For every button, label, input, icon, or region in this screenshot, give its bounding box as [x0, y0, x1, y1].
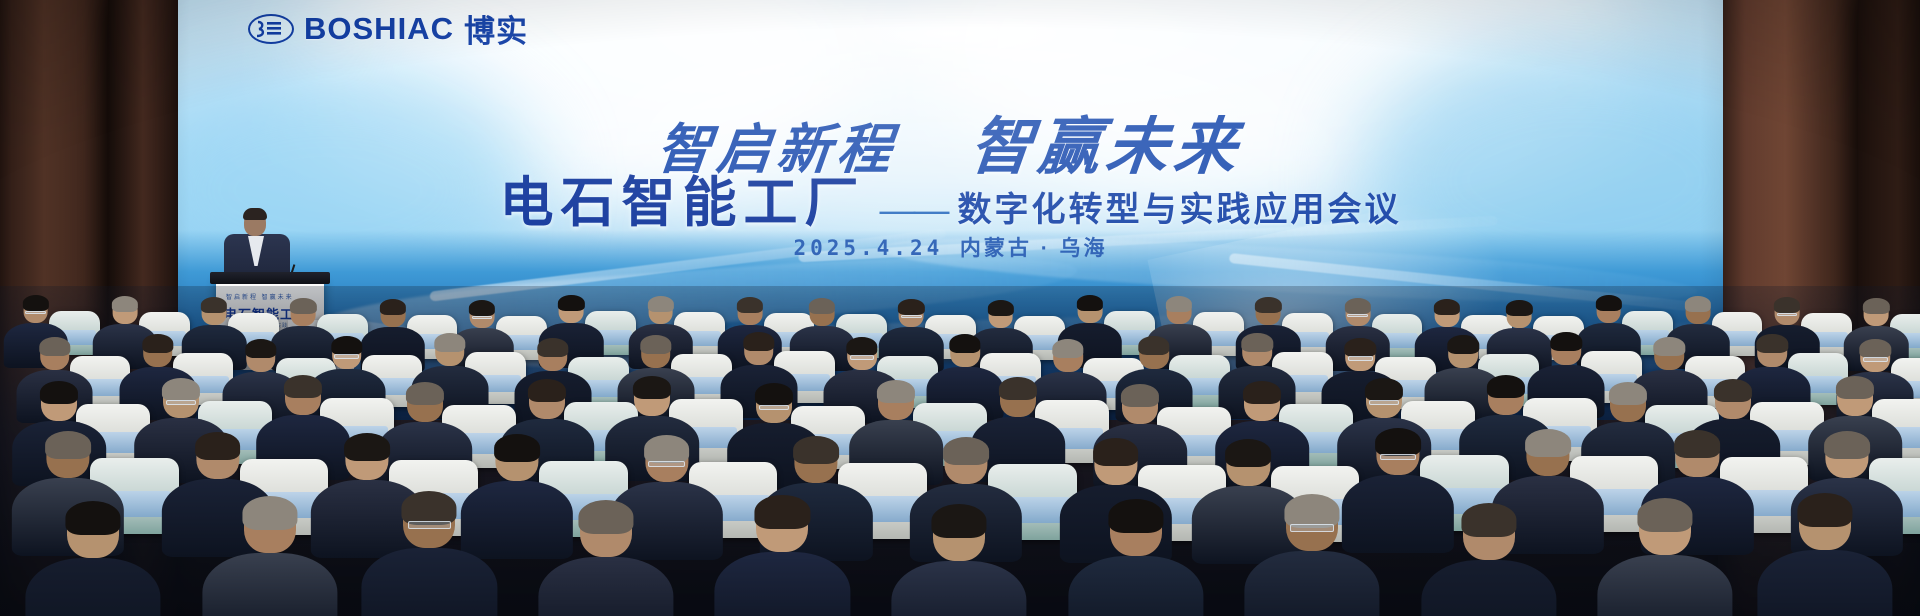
audience-hair	[1345, 338, 1376, 357]
audience-hair	[1093, 438, 1139, 466]
audience-hair	[1225, 439, 1271, 467]
audience-hair	[1714, 379, 1752, 402]
audience-hair	[112, 296, 138, 312]
brand-logo: BOSHIAC 博实	[248, 6, 528, 51]
audience-hair	[537, 338, 568, 357]
audience-shoulders	[538, 557, 673, 616]
brand-chinese-name: 博实	[464, 6, 528, 51]
audience-hair	[558, 295, 584, 311]
date-location-line: 2025.4.24 内蒙古 · 乌海	[178, 232, 1723, 262]
audience-glasses	[1347, 314, 1368, 318]
audience-shoulders	[1068, 556, 1203, 616]
audience-hair	[846, 337, 877, 356]
audience-hair	[290, 298, 316, 314]
audience-hair	[809, 298, 835, 314]
audience-glasses	[408, 521, 452, 529]
audience-hair	[1525, 429, 1571, 457]
audience-hair	[66, 501, 121, 535]
audience-shoulders	[202, 553, 337, 616]
audience-glasses	[166, 400, 196, 405]
brand-latin-name: BOSHIAC	[304, 11, 454, 47]
audience-hair	[344, 433, 390, 461]
audience-hair	[1836, 376, 1874, 399]
audience-shoulders	[1421, 560, 1556, 616]
audience-hair	[22, 295, 48, 311]
audience-hair	[1654, 337, 1685, 356]
audience-hair	[877, 380, 915, 403]
audience-member	[26, 503, 161, 616]
audience-hair	[578, 500, 633, 534]
audience-hair	[380, 299, 406, 315]
title-dash: ——	[870, 189, 954, 237]
conference-subtitle: 数字化转型与实践应用会议	[958, 182, 1402, 237]
audience-hair	[1797, 493, 1852, 527]
event-date: 2025.4.24	[793, 236, 943, 260]
audience-hair	[1774, 297, 1800, 313]
audience-hair	[1487, 375, 1525, 398]
audience-area	[0, 286, 1920, 616]
audience-hair	[1675, 430, 1721, 458]
audience-hair	[999, 377, 1037, 400]
audience-hair	[1863, 298, 1889, 314]
audience-hair	[434, 333, 465, 352]
audience-hair	[245, 339, 276, 358]
audience-hair	[1166, 296, 1192, 312]
audience-hair	[647, 296, 673, 312]
audience-hair	[1685, 296, 1711, 312]
audience-member	[1598, 500, 1733, 616]
audience-shoulders	[1244, 551, 1379, 616]
audience-glasses	[901, 315, 922, 319]
audience-hair	[1757, 334, 1788, 353]
audience-shoulders	[362, 548, 497, 616]
audience-hair	[1461, 503, 1516, 537]
audience-glasses	[759, 405, 789, 410]
event-location: 内蒙古 · 乌海	[960, 237, 1108, 260]
conference-photo: BOSHIAC 博实 智启新程 智赢未来 电石智能工厂 —— 数字化转型与实践应…	[0, 0, 1920, 616]
audience-member	[1068, 501, 1203, 616]
audience-hair	[1448, 335, 1479, 354]
audience-hair	[1609, 382, 1647, 405]
audience-shoulders	[26, 558, 161, 616]
audience-hair	[633, 376, 671, 399]
audience-hair	[1108, 499, 1163, 533]
main-title: 电石智能工厂	[500, 158, 866, 237]
audience-member	[1757, 495, 1892, 616]
audience-hair	[1824, 431, 1870, 459]
audience-member	[891, 506, 1026, 616]
audience-glasses	[1777, 313, 1798, 317]
audience-hair	[494, 434, 540, 462]
audience-glasses	[1369, 400, 1399, 405]
audience-shoulders	[1757, 550, 1892, 616]
audience-hair	[406, 382, 444, 405]
audience-glasses	[648, 461, 684, 467]
audience-hair	[162, 378, 200, 401]
audience-hair	[743, 332, 774, 351]
audience-glasses	[1348, 356, 1373, 360]
audience-hair	[1506, 300, 1532, 316]
audience-hair	[1638, 498, 1693, 532]
audience-hair	[39, 337, 70, 356]
audience-glasses	[334, 354, 359, 358]
audience-hair	[45, 431, 91, 459]
audience-hair	[949, 334, 980, 353]
audience-shoulders	[1598, 555, 1733, 616]
audience-hair	[1375, 428, 1421, 456]
audience-hair	[1345, 298, 1371, 314]
audience-hair	[242, 496, 297, 530]
audience-hair	[1077, 295, 1103, 311]
audience-glasses	[1863, 357, 1888, 361]
audience-hair	[1434, 299, 1460, 315]
audience-member	[1421, 505, 1556, 616]
audience-hair	[644, 435, 690, 463]
audience-hair	[284, 375, 322, 398]
audience-member	[202, 498, 337, 616]
audience-hair	[402, 491, 457, 525]
audience-hair	[640, 335, 671, 354]
audience-glasses	[1380, 454, 1416, 460]
audience-hair	[943, 437, 989, 465]
audience-hair	[793, 436, 839, 464]
audience-hair	[755, 495, 810, 529]
audience-hair	[142, 334, 173, 353]
audience-hair	[1860, 339, 1891, 358]
audience-hair	[755, 383, 793, 406]
audience-hair	[1241, 333, 1272, 352]
audience-member	[1244, 496, 1379, 616]
audience-glasses	[472, 316, 493, 320]
audience-hair	[1595, 295, 1621, 311]
audience-member	[362, 493, 497, 616]
audience-hair	[1052, 339, 1083, 358]
audience-hair	[201, 297, 227, 313]
audience-hair	[1243, 381, 1281, 404]
audience-hair	[1365, 378, 1403, 401]
audience-hair	[898, 299, 924, 315]
audience-hair	[1138, 336, 1169, 355]
audience-hair	[931, 504, 986, 538]
boshiac-circle-logo-icon	[248, 14, 294, 44]
audience-hair	[1121, 384, 1159, 407]
audience-hair	[40, 381, 78, 404]
audience-hair	[987, 300, 1013, 316]
audience-hair	[195, 432, 241, 460]
audience-hair	[1255, 297, 1281, 313]
main-title-row: 电石智能工厂 —— 数字化转型与实践应用会议	[178, 158, 1723, 237]
audience-hair	[528, 379, 566, 402]
audience-hair	[331, 336, 362, 355]
lectern-top-surface	[210, 272, 330, 284]
audience-hair	[1285, 494, 1340, 528]
audience-hair	[737, 297, 763, 313]
audience-glasses	[850, 355, 875, 359]
audience-hair	[469, 300, 495, 316]
speaker-hair	[243, 208, 267, 220]
audience-shoulders	[891, 561, 1026, 616]
audience-shoulders	[715, 552, 850, 616]
audience-hair	[1551, 332, 1582, 351]
audience-member	[715, 497, 850, 616]
audience-member	[538, 502, 673, 616]
audience-glasses	[25, 311, 46, 315]
audience-glasses	[1290, 524, 1334, 532]
